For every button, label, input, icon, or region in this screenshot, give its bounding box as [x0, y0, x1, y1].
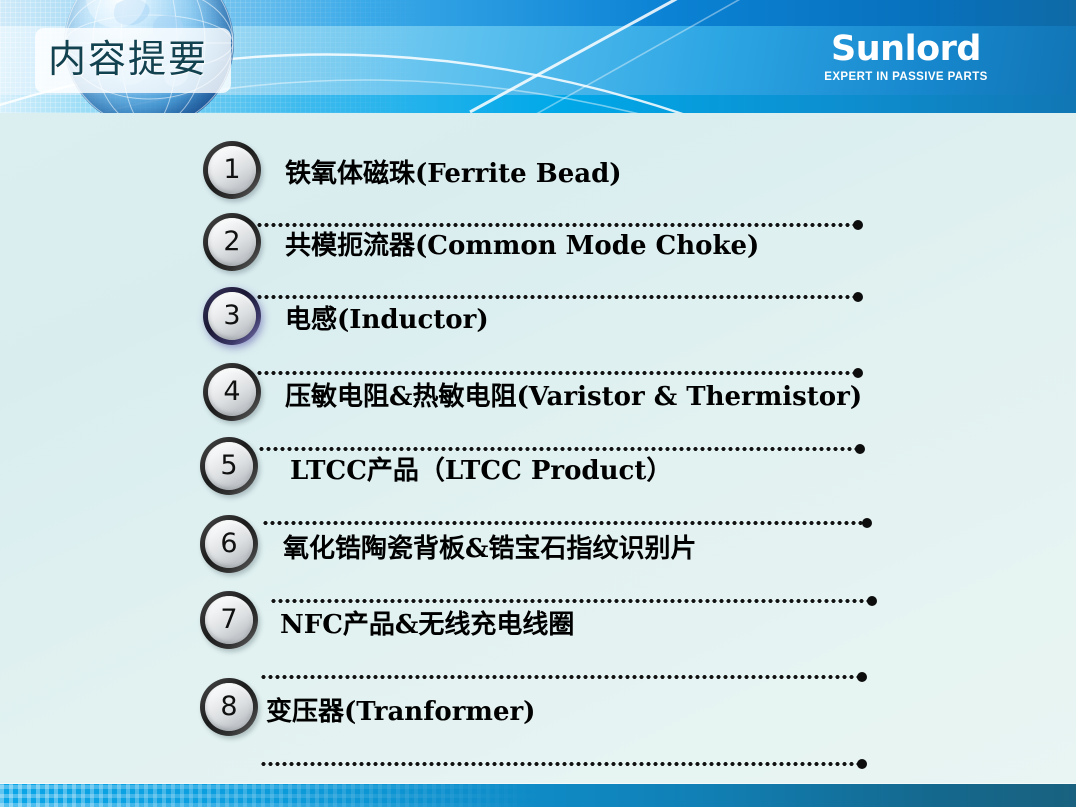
- item-number-label: 6: [205, 520, 253, 568]
- item-number-badge[interactable]: 5: [200, 437, 258, 495]
- item-text: LTCC产品（LTCC Product）: [290, 450, 672, 487]
- slide-canvas: 内容提要 Sunlord EXPERT IN PASSIVE PARTS 1 铁…: [0, 0, 1076, 807]
- item-number-badge[interactable]: 1: [203, 141, 261, 199]
- item-number-label: 5: [205, 442, 253, 490]
- list-item[interactable]: 5 LTCC产品（LTCC Product）: [0, 437, 1076, 525]
- item-number-badge[interactable]: 2: [203, 213, 261, 271]
- list-item[interactable]: 6 氧化锆陶瓷背板&锆宝石指纹识别片: [0, 515, 1076, 603]
- footer-dot-texture: [0, 784, 540, 807]
- agenda-list: 1 铁氧体磁珠(Ferrite Bead) 2 共模扼流器(Common Mod…: [0, 113, 1076, 768]
- item-text: 共模扼流器(Common Mode Choke): [285, 225, 759, 262]
- list-item[interactable]: 7 NFC产品&无线充电线圈: [0, 591, 1076, 679]
- slide-header: 内容提要 Sunlord EXPERT IN PASSIVE PARTS: [0, 0, 1076, 113]
- item-number-label: 2: [208, 218, 256, 266]
- item-number-label: 4: [208, 368, 256, 416]
- item-text: 氧化锆陶瓷背板&锆宝石指纹识别片: [283, 528, 696, 565]
- page-title: 内容提要: [48, 33, 248, 85]
- item-end-dot: [857, 759, 867, 769]
- item-number-label: 1: [208, 146, 256, 194]
- list-item[interactable]: 3 电感(Inductor): [0, 287, 1076, 375]
- item-number-label: 3: [208, 292, 256, 340]
- item-text: 变压器(Tranformer): [266, 691, 535, 728]
- list-item[interactable]: 8 变压器(Tranformer): [0, 678, 1076, 766]
- item-number-badge[interactable]: 7: [200, 591, 258, 649]
- item-text: NFC产品&无线充电线圈: [280, 604, 574, 641]
- item-number-badge[interactable]: 3: [203, 287, 261, 345]
- brand-name: Sunlord: [756, 30, 1056, 68]
- item-text: 压敏电阻&热敏电阻(Varistor & Thermistor): [285, 376, 862, 413]
- slide-footer: [0, 784, 1076, 807]
- item-dotted-rule: [260, 762, 860, 766]
- item-text: 铁氧体磁珠(Ferrite Bead): [285, 153, 622, 190]
- item-number-badge[interactable]: 8: [200, 678, 258, 736]
- item-number-label: 8: [205, 683, 253, 731]
- brand-tagline: EXPERT IN PASSIVE PARTS: [756, 71, 1056, 83]
- item-text: 电感(Inductor): [285, 299, 489, 336]
- item-number-label: 7: [205, 596, 253, 644]
- item-number-badge[interactable]: 6: [200, 515, 258, 573]
- brand-logo: Sunlord EXPERT IN PASSIVE PARTS: [756, 30, 1056, 83]
- item-number-badge[interactable]: 4: [203, 363, 261, 421]
